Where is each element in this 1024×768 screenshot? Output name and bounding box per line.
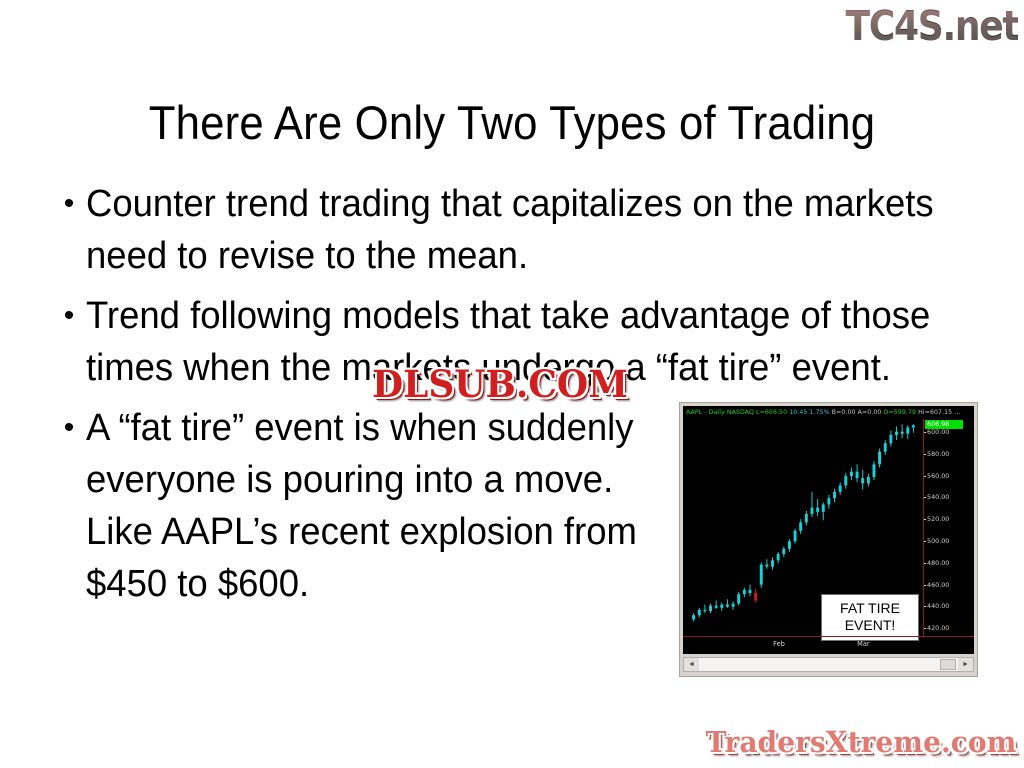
callout-line-1: FAT TIRE [822, 600, 918, 617]
bullet-text: Counter trend trading that capitalizes o… [86, 178, 946, 282]
scrollbar-track[interactable] [699, 658, 958, 671]
chart-last-price: L=606.50 [756, 409, 787, 416]
chart-open: O=599.79 [884, 409, 917, 416]
bullet-text: A “fat tire” event is when suddenly ever… [86, 402, 662, 610]
date-axis-tick: Feb [773, 640, 785, 648]
price-axis-tick: 560.00 [927, 473, 949, 480]
scroll-left-arrow-icon[interactable]: ◄ [684, 658, 699, 671]
chart-plot-panel: AAPL - Daily NASDAQ L=606.50 10.45 1.75%… [683, 406, 974, 654]
price-axis-tick: 600.00 [927, 429, 949, 436]
chart-symbol: AAPL - Daily [686, 409, 725, 416]
tc4s-logo: TC4S.net [845, 2, 1018, 50]
fat-tire-event-callout: FAT TIRE EVENT! [821, 594, 919, 641]
candlestick-plot-area: FAT TIRE EVENT! [685, 419, 924, 637]
chart-change-percent: 1.75% [810, 409, 830, 416]
price-axis-tick: 500.00 [927, 538, 949, 545]
chart-header-truncation: ... [954, 409, 960, 416]
list-item: • Counter trend trading that capitalizes… [52, 178, 982, 282]
bullet-marker-icon: • [52, 178, 86, 230]
date-axis: FebMar [683, 636, 974, 654]
date-axis-tick: Mar [857, 640, 869, 648]
price-axis-tick: 420.00 [927, 625, 949, 632]
bullet-marker-icon: • [52, 290, 86, 342]
page-title: There Are Only Two Types of Trading [36, 95, 988, 150]
price-axis: 606.98600.00580.00560.00540.00520.00500.… [923, 419, 974, 637]
chart-exchange: NASDAQ [727, 409, 754, 416]
tradersxtreme-logo: TradersXtreme.com [705, 725, 1016, 759]
chart-change: 10.45 [789, 409, 807, 416]
chart-high: Hi=607.15 [918, 409, 952, 416]
price-axis-tick: 460.00 [927, 582, 949, 589]
chart-horizontal-scrollbar[interactable]: ◄ ► [683, 657, 974, 672]
scroll-right-arrow-icon[interactable]: ► [958, 658, 973, 671]
bullet-marker-icon: • [52, 402, 86, 454]
price-axis-tick: 540.00 [927, 494, 949, 501]
price-axis-tick: 580.00 [927, 451, 949, 458]
chart-ask: A=0.00 [858, 409, 882, 416]
price-axis-tick: 440.00 [927, 603, 949, 610]
chart-bid: B=0.00 [832, 409, 856, 416]
dlsub-watermark: DLSUB.COM [372, 362, 628, 406]
price-axis-tick: 480.00 [927, 560, 949, 567]
scrollbar-thumb[interactable] [940, 659, 956, 670]
chart-header-quote-line: AAPL - Daily NASDAQ L=606.50 10.45 1.75%… [686, 407, 972, 418]
callout-line-2: EVENT! [822, 617, 918, 634]
price-axis-tick: 520.00 [927, 516, 949, 523]
aapl-chart-window: AAPL - Daily NASDAQ L=606.50 10.45 1.75%… [679, 402, 978, 677]
